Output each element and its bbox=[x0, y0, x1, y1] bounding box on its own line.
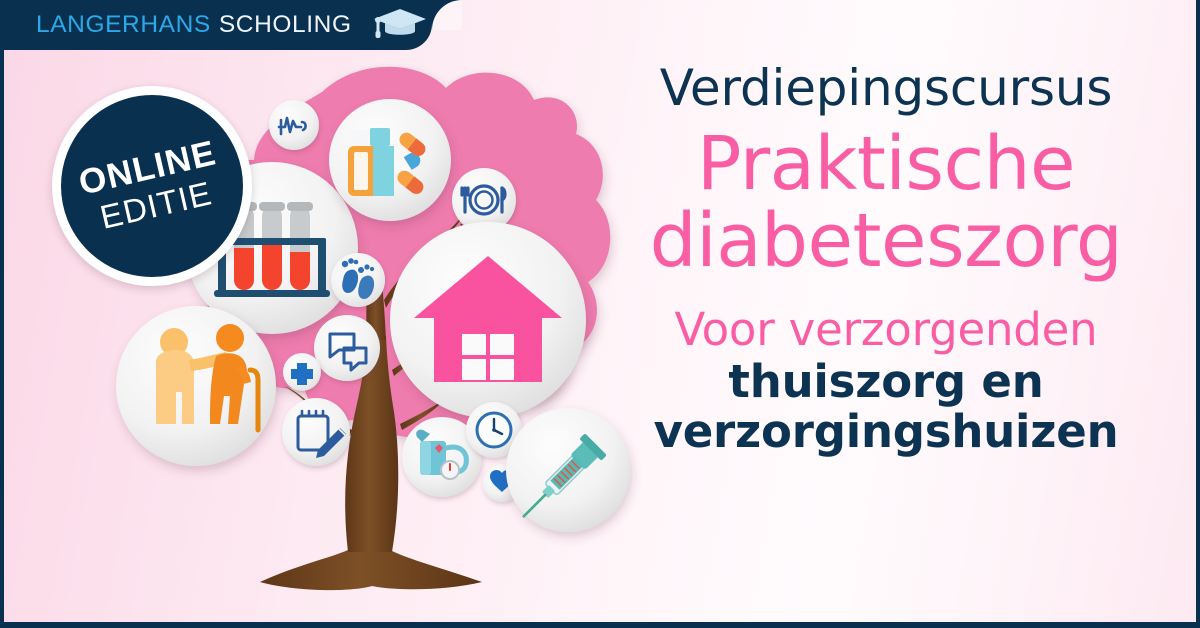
right-border-rail bbox=[1196, 0, 1200, 628]
elderly-caregiver-icon-bubble bbox=[116, 306, 276, 466]
course-headline: Praktische diabeteszorg bbox=[600, 127, 1172, 280]
brand-name-langerhans: LANGERHANS bbox=[36, 11, 211, 39]
headline-line-2: diabeteszorg bbox=[600, 204, 1172, 279]
header-bar: LANGERHANS SCHOLING bbox=[0, 0, 432, 50]
header-bar-notch bbox=[432, 0, 462, 30]
left-border-rail bbox=[0, 50, 4, 628]
online-edition-badge: ONLINE EDITIE bbox=[52, 86, 252, 286]
online-edition-badge-text: ONLINE EDITIE bbox=[76, 135, 228, 237]
audience-navy-line-2: verzorgingshuizen bbox=[600, 407, 1172, 457]
promo-copy-block: Verdiepingscursus Praktische diabeteszor… bbox=[600, 62, 1172, 457]
promo-banner: ONLINE EDITIE LANGERHANS SCHOLING Verdie bbox=[0, 0, 1200, 628]
audience-lines-navy: thuiszorg en verzorgingshuizen bbox=[600, 357, 1172, 458]
audience-line-pink: Voor verzorgenden bbox=[600, 306, 1172, 355]
headline-line-1: Praktische bbox=[697, 121, 1075, 207]
course-kicker: Verdiepingscursus bbox=[600, 62, 1172, 115]
clock-icon bbox=[477, 413, 511, 447]
graduation-cap-icon bbox=[372, 6, 428, 44]
brand-name-scholing: SCHOLING bbox=[219, 11, 352, 39]
bottom-border-rail bbox=[0, 622, 1200, 628]
audience-navy-line-1: thuiszorg en bbox=[600, 357, 1172, 407]
brand-lockup[interactable]: LANGERHANS SCHOLING bbox=[0, 6, 428, 44]
